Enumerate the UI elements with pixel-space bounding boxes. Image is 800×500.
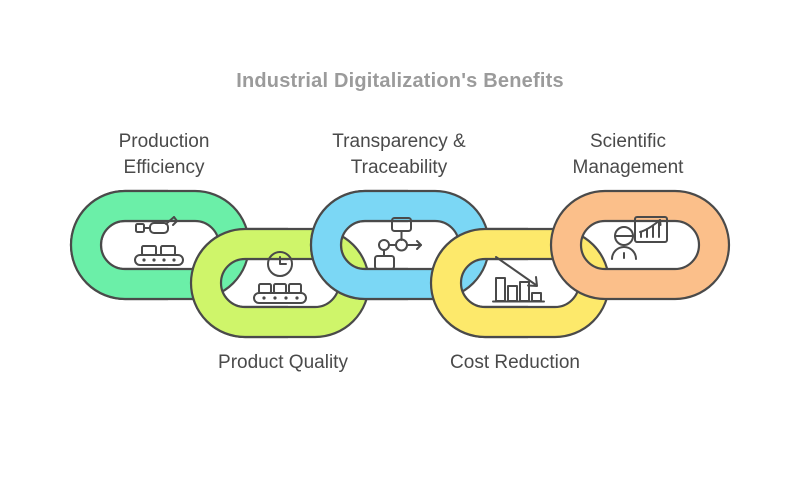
person-growth-chart-icon	[612, 217, 667, 259]
chain-link-scientific-management[interactable]	[551, 191, 729, 299]
chain-diagram	[0, 0, 800, 500]
robot-arm-conveyor-icon	[135, 217, 183, 265]
flowchart-nodes-icon	[375, 218, 421, 269]
infographic-canvas: Industrial Digitalization's Benefits Pro…	[0, 0, 800, 500]
declining-bar-chart-icon	[493, 257, 544, 302]
